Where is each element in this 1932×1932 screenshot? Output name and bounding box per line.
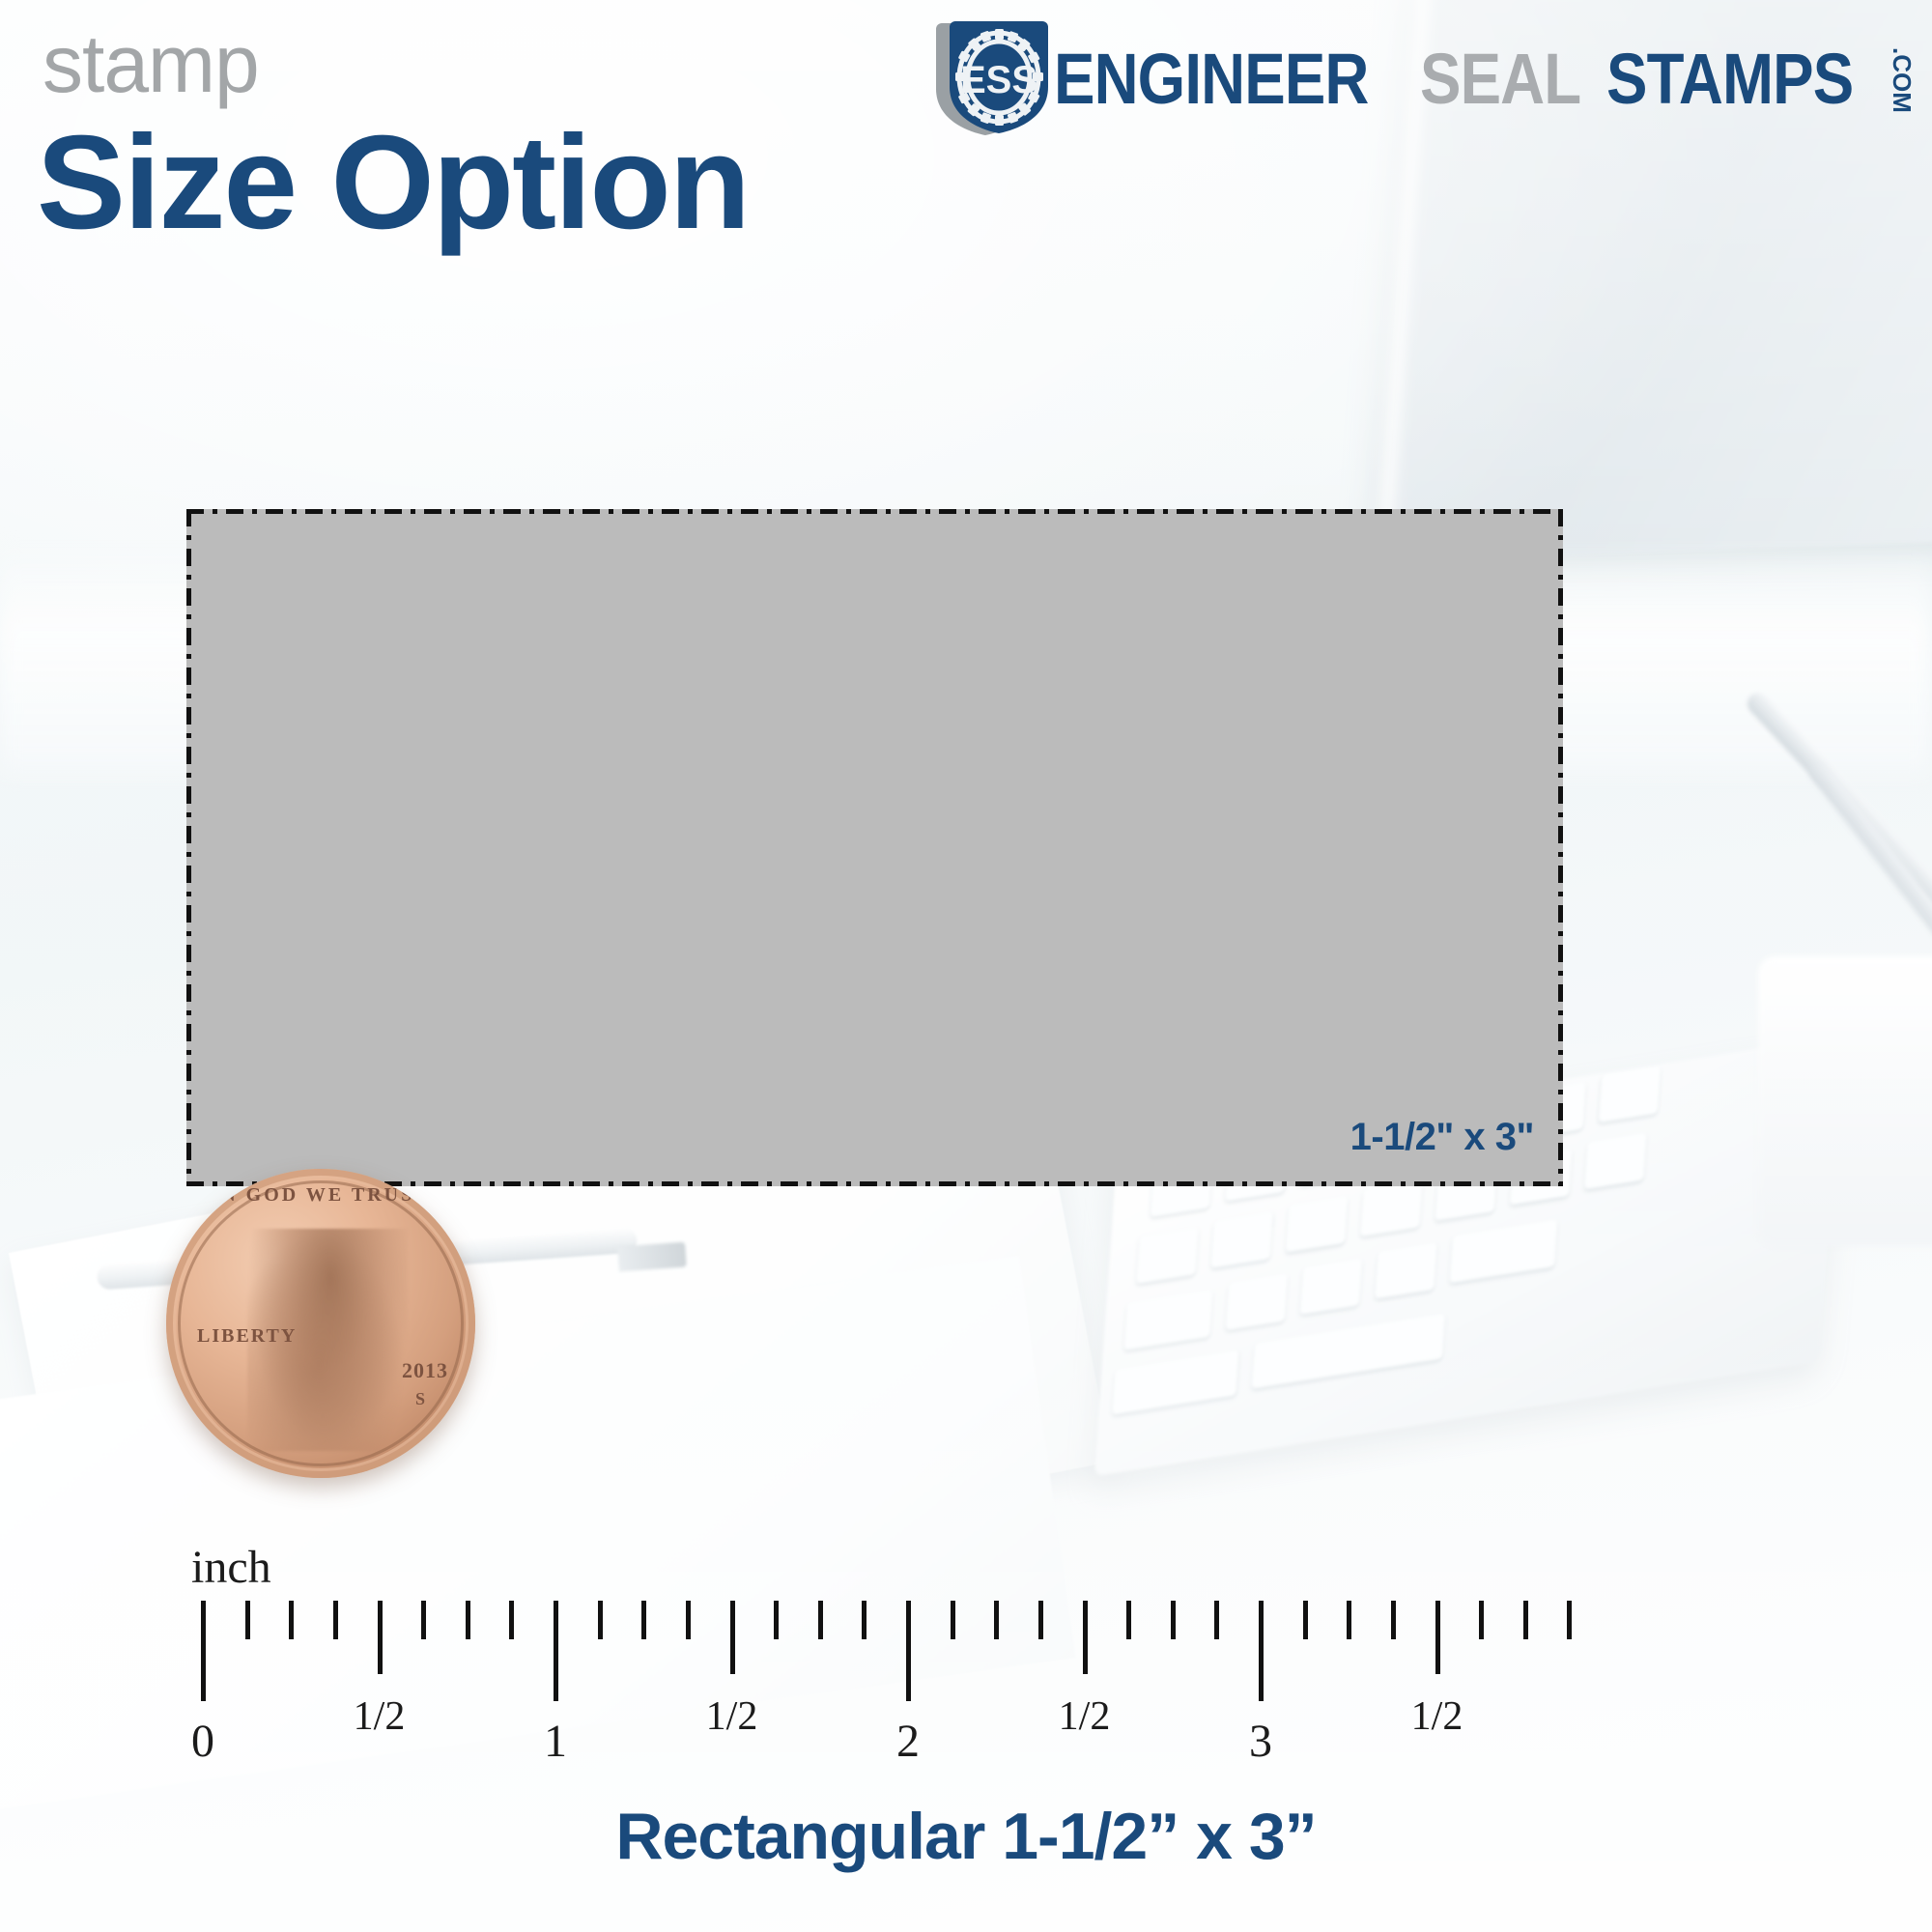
- ruler-tick-half: [1435, 1601, 1440, 1674]
- logo-word-engineer: ENGINEER: [1054, 43, 1369, 115]
- ruler-tick-label: 1/2: [1411, 1693, 1463, 1740]
- ruler-tick-minor: [1038, 1601, 1043, 1639]
- ruler-tick-minor: [686, 1601, 691, 1639]
- logo-word-tld: .COM: [1889, 47, 1915, 113]
- svg-text:ESS: ESS: [960, 59, 1037, 101]
- ruler-tick-half: [730, 1601, 735, 1674]
- preview-border-top: [186, 509, 1563, 514]
- ruler-tick-minor: [333, 1601, 338, 1639]
- ruler-tick-minor: [1567, 1601, 1572, 1639]
- ruler-tick-label: 1/2: [354, 1693, 406, 1740]
- ruler-tick-minor: [598, 1601, 603, 1639]
- ruler-tick-label: 1/2: [706, 1693, 758, 1740]
- eyebrow-label: stamp: [43, 23, 259, 104]
- ruler-tick-label: 1/2: [1059, 1693, 1111, 1740]
- ruler-tick-minor: [641, 1601, 646, 1639]
- preview-border-left: [186, 509, 191, 1186]
- ruler-tick-minor: [1391, 1601, 1396, 1639]
- ruler-tick-minor: [245, 1601, 250, 1639]
- ruler-tick-minor: [818, 1601, 823, 1639]
- penny-year: 2013: [402, 1358, 448, 1383]
- ruler-tick-major: [201, 1601, 206, 1701]
- ruler-tick-minor: [1479, 1601, 1484, 1639]
- ruler-tick-minor: [509, 1601, 514, 1639]
- penny-mint-mark: S: [415, 1389, 425, 1409]
- ruler-tick-major: [1259, 1601, 1264, 1701]
- penny-motto: IN GOD WE TRUST: [166, 1184, 475, 1207]
- ruler-tick-minor: [1523, 1601, 1528, 1639]
- brand-logo[interactable]: ESS ENGINEER SEAL STAMPS .COM: [926, 17, 1915, 141]
- ruler-tick-minor: [1171, 1601, 1176, 1639]
- ruler-tick-label: 2: [896, 1715, 920, 1768]
- page-title: Size Option: [37, 116, 749, 249]
- ruler-tick-minor: [289, 1601, 294, 1639]
- ruler-unit-label: inch: [191, 1541, 271, 1594]
- size-caption: Rectangular 1-1/2” x 3”: [0, 1799, 1932, 1874]
- size-option-graphic: stamp Size Option: [0, 0, 1932, 1932]
- penny-scale-reference: IN GOD WE TRUST LIBERTY 2013 S: [166, 1169, 475, 1478]
- stamp-dimension-label: 1-1/2" x 3": [1350, 1116, 1534, 1159]
- ruler-tick-minor: [421, 1601, 426, 1639]
- logo-word-seal: SEAL: [1420, 43, 1580, 115]
- ruler-tick-label: 0: [191, 1715, 214, 1768]
- inch-ruler: inch 01/211/221/231/2: [0, 1541, 1932, 1792]
- ruler-tick-minor: [774, 1601, 779, 1639]
- ruler-tick-major: [554, 1601, 558, 1701]
- logo-wordmark: ENGINEER SEAL STAMPS .COM: [1054, 43, 1915, 115]
- gear-shield-icon: ESS: [926, 17, 1054, 141]
- ruler-tick-label: 1: [544, 1715, 567, 1768]
- ruler-tick-minor: [1303, 1601, 1308, 1639]
- preview-border-right: [1558, 509, 1563, 1186]
- ruler-tick-label: 3: [1249, 1715, 1272, 1768]
- ruler-tick-minor: [862, 1601, 867, 1639]
- ruler-tick-minor: [1214, 1601, 1219, 1639]
- stamp-preview-area[interactable]: 1-1/2" x 3": [186, 509, 1563, 1186]
- ruler-tick-half: [1083, 1601, 1088, 1674]
- ruler-tick-minor: [951, 1601, 955, 1639]
- ruler-tick-half: [378, 1601, 383, 1674]
- ruler-tick-major: [906, 1601, 911, 1701]
- ruler-tick-minor: [466, 1601, 470, 1639]
- ruler-tick-minor: [1347, 1601, 1351, 1639]
- ruler-tick-minor: [1126, 1601, 1131, 1639]
- ruler-tick-minor: [994, 1601, 999, 1639]
- penny-liberty: LIBERTY: [197, 1325, 297, 1348]
- logo-word-stamps: STAMPS: [1606, 43, 1853, 115]
